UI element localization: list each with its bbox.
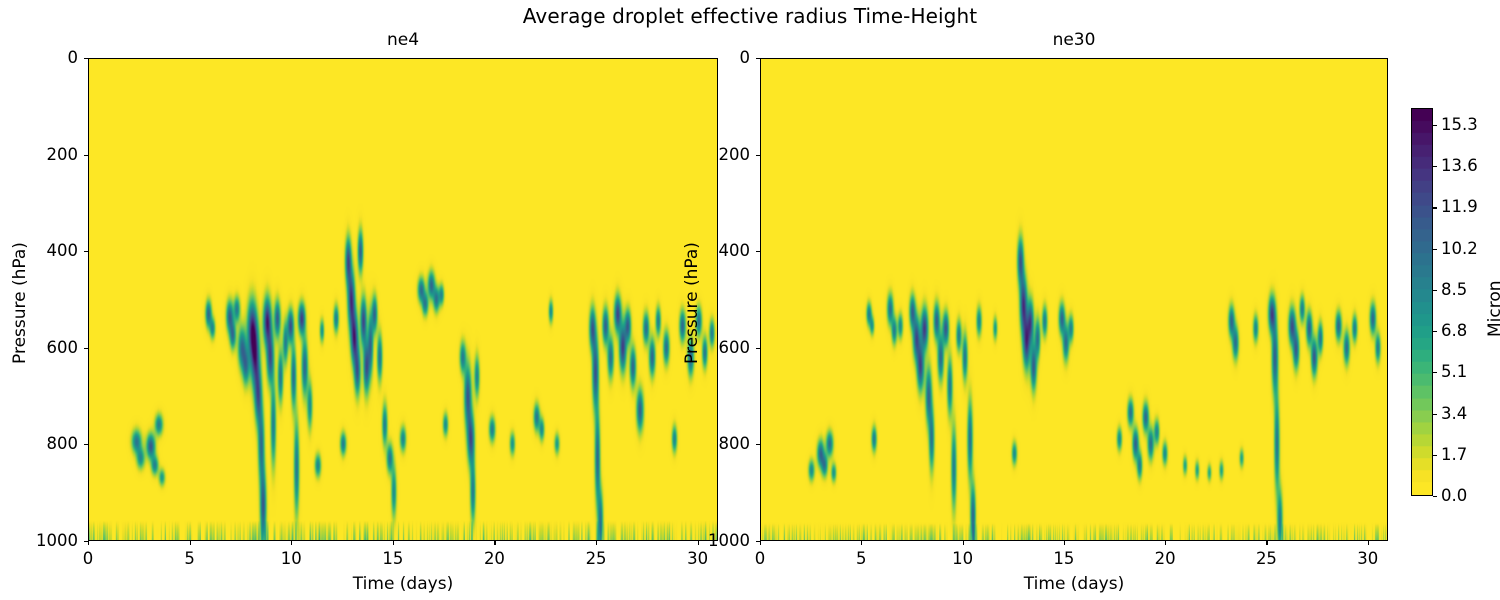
xtick-mark <box>596 541 597 545</box>
colorbar-tick-mark <box>1433 290 1437 291</box>
heatmap-axes-ne30 <box>760 58 1388 541</box>
colorbar-label: Micron <box>1485 280 1500 337</box>
colorbar-tick-mark <box>1433 372 1437 373</box>
xtick-label: 10 <box>933 549 993 568</box>
xtick-label: 15 <box>1034 549 1094 568</box>
colorbar-tick-label: 15.3 <box>1441 115 1478 134</box>
xtick-mark <box>1266 541 1267 545</box>
colorbar-tick-label: 0.0 <box>1441 486 1467 505</box>
xtick-label: 5 <box>160 549 220 568</box>
xtick-mark <box>963 541 964 545</box>
xtick-mark <box>494 541 495 545</box>
xtick-mark <box>1368 541 1369 545</box>
figure-root: Average droplet effective radius Time-He… <box>0 0 1500 600</box>
colorbar-tick-mark <box>1433 496 1437 497</box>
colorbar-tick-mark <box>1433 207 1437 208</box>
heatmap-axes-ne4 <box>88 58 718 541</box>
colorbar <box>1411 108 1433 496</box>
colorbar-tick-label: 13.6 <box>1441 156 1478 175</box>
ytick-mark <box>756 251 760 252</box>
heatmap-canvas-ne30 <box>761 59 1387 540</box>
xtick-label: 5 <box>831 549 891 568</box>
ytick-mark <box>84 348 88 349</box>
figure-title: Average droplet effective radius Time-He… <box>0 4 1500 28</box>
subplot-title-ne4: ne4 <box>88 30 718 50</box>
heatmap-canvas-ne4 <box>89 59 717 540</box>
ytick-mark <box>756 348 760 349</box>
colorbar-tick-mark <box>1433 455 1437 456</box>
ytick-label: 0 <box>690 48 750 67</box>
xtick-label: 25 <box>566 549 626 568</box>
colorbar-tick-label: 11.9 <box>1441 197 1478 216</box>
xtick-label: 15 <box>363 549 423 568</box>
xtick-mark <box>1165 541 1166 545</box>
subplot-title-ne30: ne30 <box>760 30 1388 50</box>
ytick-mark <box>756 58 760 59</box>
colorbar-canvas <box>1412 109 1432 495</box>
ytick-mark <box>756 444 760 445</box>
xtick-label: 0 <box>58 549 118 568</box>
colorbar-tick-mark <box>1433 249 1437 250</box>
ytick-label: 800 <box>690 434 750 453</box>
xtick-label: 30 <box>668 549 728 568</box>
ytick-mark <box>756 155 760 156</box>
colorbar-tick-label: 5.1 <box>1441 362 1467 381</box>
y-axis-label: Pressure (hPa) <box>10 242 30 364</box>
xtick-mark <box>861 541 862 545</box>
colorbar-tick-label: 6.8 <box>1441 321 1467 340</box>
x-axis-label: Time (days) <box>760 574 1388 594</box>
xtick-label: 25 <box>1236 549 1296 568</box>
xtick-label: 30 <box>1338 549 1398 568</box>
colorbar-tick-mark <box>1433 125 1437 126</box>
ytick-label: 200 <box>18 145 78 164</box>
ytick-label: 200 <box>690 145 750 164</box>
colorbar-tick-label: 1.7 <box>1441 445 1467 464</box>
y-axis-label: Pressure (hPa) <box>682 242 702 364</box>
xtick-mark <box>291 541 292 545</box>
ytick-mark <box>84 155 88 156</box>
xtick-mark <box>190 541 191 545</box>
ytick-mark <box>756 541 760 542</box>
ytick-mark <box>84 58 88 59</box>
colorbar-tick-label: 10.2 <box>1441 239 1478 258</box>
ytick-mark <box>84 541 88 542</box>
ytick-label: 1000 <box>690 531 750 550</box>
colorbar-tick-mark <box>1433 331 1437 332</box>
ytick-label: 0 <box>18 48 78 67</box>
colorbar-tick-mark <box>1433 166 1437 167</box>
ytick-mark <box>84 444 88 445</box>
colorbar-tick-label: 3.4 <box>1441 404 1467 423</box>
xtick-label: 10 <box>261 549 321 568</box>
xtick-label: 20 <box>1135 549 1195 568</box>
x-axis-label: Time (days) <box>88 574 718 594</box>
ytick-label: 1000 <box>18 531 78 550</box>
ytick-mark <box>84 251 88 252</box>
xtick-label: 20 <box>464 549 524 568</box>
colorbar-tick-mark <box>1433 414 1437 415</box>
xtick-mark <box>88 541 89 545</box>
ytick-label: 800 <box>18 434 78 453</box>
colorbar-tick-label: 8.5 <box>1441 280 1467 299</box>
xtick-mark <box>1064 541 1065 545</box>
xtick-mark <box>393 541 394 545</box>
xtick-mark <box>760 541 761 545</box>
xtick-label: 0 <box>730 549 790 568</box>
